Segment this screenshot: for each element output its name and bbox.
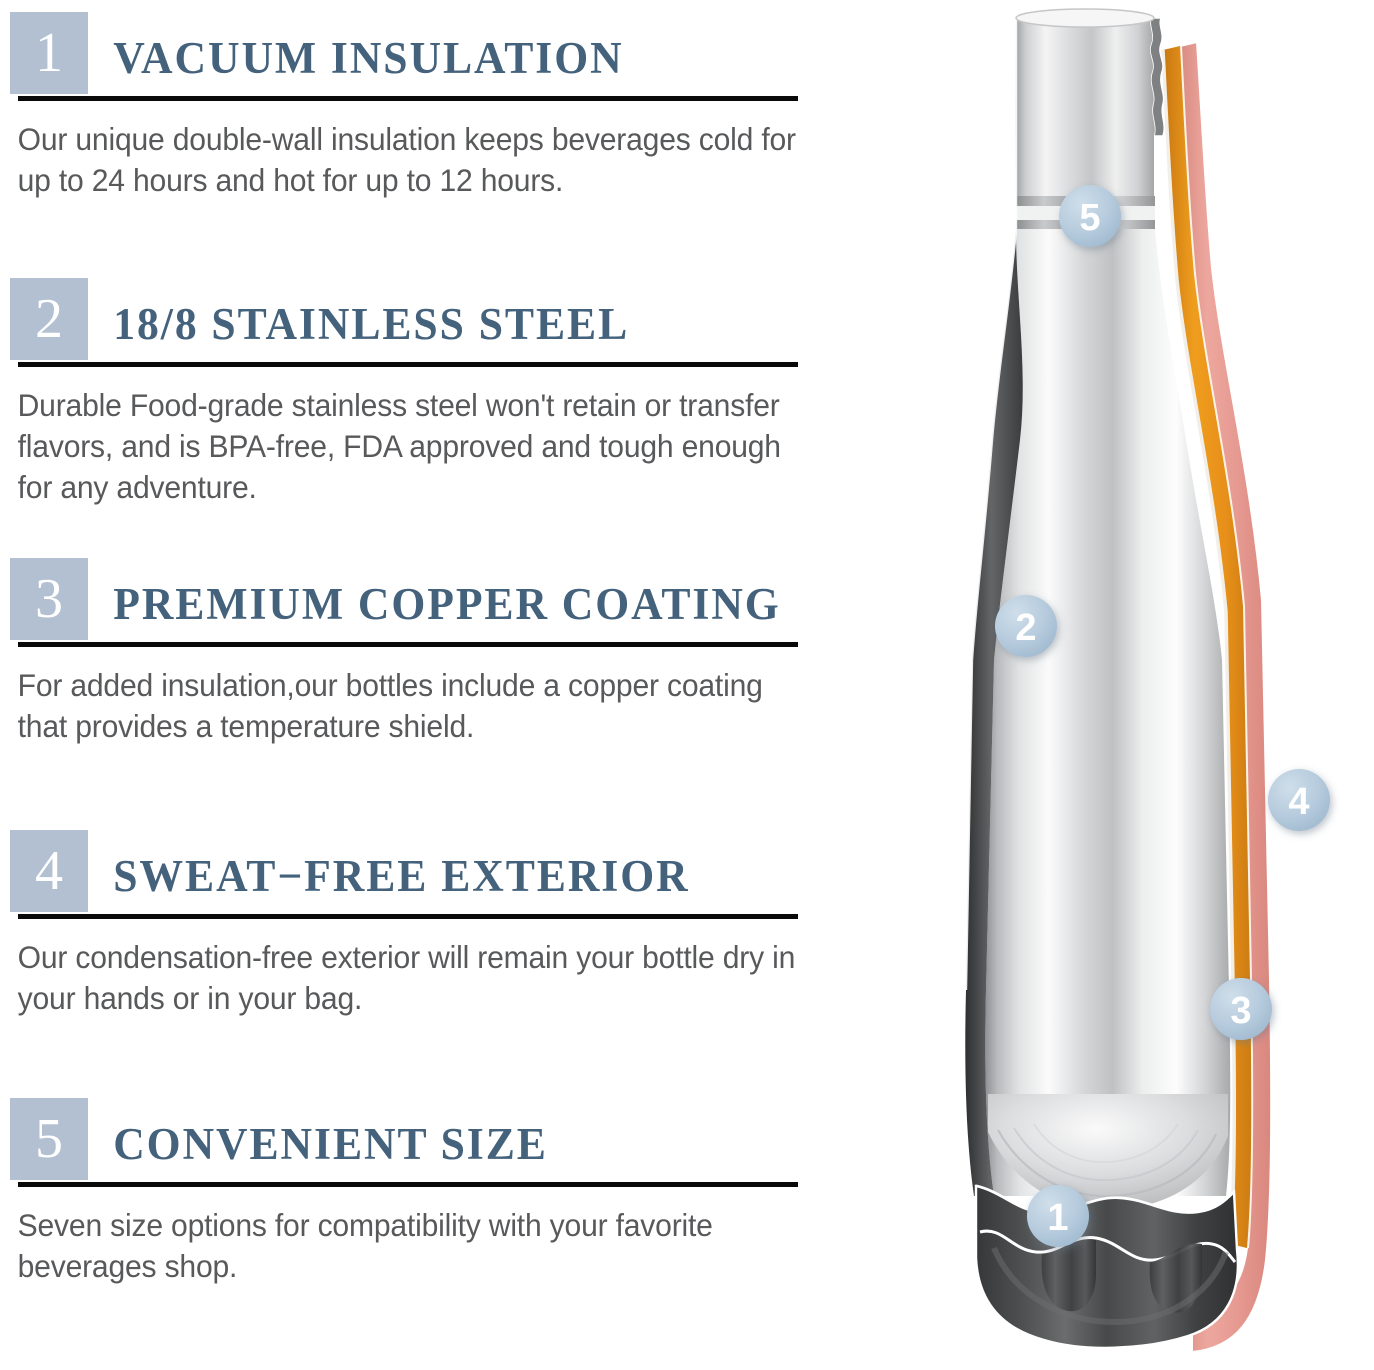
feature-description: Seven size options for compatibility wit… xyxy=(10,1187,803,1287)
bottle-cutaway-svg: 5 2 4 3 1 xyxy=(954,0,1374,1370)
marker-label: 2 xyxy=(1015,607,1036,649)
marker-2[interactable]: 2 xyxy=(995,595,1057,657)
feature-description: Durable Food-grade stainless steel won't… xyxy=(10,367,803,508)
feature-header: 4 SWEAT−FREE EXTERIOR xyxy=(10,828,840,914)
feature-item-convenient-size: 5 CONVENIENT SIZE Seven size options for… xyxy=(10,1096,840,1287)
feature-header: 2 18/8 STAINLESS STEEL xyxy=(10,276,840,362)
feature-description: For added insulation,our bottles include… xyxy=(10,647,803,747)
marker-label: 5 xyxy=(1079,197,1100,239)
feature-description: Our condensation-free exterior will rema… xyxy=(10,919,803,1019)
marker-label: 3 xyxy=(1230,990,1251,1032)
feature-description: Our unique double-wall insulation keeps … xyxy=(10,101,803,201)
bottle-mouth-rim xyxy=(1016,9,1154,27)
feature-number-badge: 4 xyxy=(10,830,88,912)
marker-4[interactable]: 4 xyxy=(1268,769,1330,831)
feature-number-badge: 2 xyxy=(10,278,88,360)
marker-1[interactable]: 1 xyxy=(1027,1185,1089,1247)
marker-label: 4 xyxy=(1288,781,1309,823)
feature-title: SWEAT−FREE EXTERIOR xyxy=(88,850,690,914)
marker-3[interactable]: 3 xyxy=(1210,978,1272,1040)
feature-title: PREMIUM COPPER COATING xyxy=(88,578,781,642)
feature-list: 1 VACUUM INSULATION Our unique double-wa… xyxy=(0,0,860,1370)
feature-item-vacuum-insulation: 1 VACUUM INSULATION Our unique double-wa… xyxy=(10,10,840,201)
marker-label: 1 xyxy=(1047,1197,1068,1239)
feature-number-badge: 5 xyxy=(10,1098,88,1180)
marker-5[interactable]: 5 xyxy=(1059,185,1121,247)
feature-header: 3 PREMIUM COPPER COATING xyxy=(10,556,840,642)
infographic-page: 1 VACUUM INSULATION Our unique double-wa… xyxy=(0,0,1374,1370)
feature-item-stainless-steel: 2 18/8 STAINLESS STEEL Durable Food-grad… xyxy=(10,276,840,508)
feature-number-badge: 3 xyxy=(10,558,88,640)
bottle-neck xyxy=(1015,16,1155,196)
feature-title: VACUUM INSULATION xyxy=(88,32,624,96)
feature-title: 18/8 STAINLESS STEEL xyxy=(88,298,629,362)
feature-item-sweat-free-exterior: 4 SWEAT−FREE EXTERIOR Our condensation-f… xyxy=(10,828,840,1019)
feature-title: CONVENIENT SIZE xyxy=(88,1118,548,1182)
bottle-illustration: 5 2 4 3 1 xyxy=(954,0,1374,1370)
feature-number-badge: 1 xyxy=(10,12,88,94)
feature-header: 1 VACUUM INSULATION xyxy=(10,10,840,96)
feature-header: 5 CONVENIENT SIZE xyxy=(10,1096,840,1182)
feature-item-copper-coating: 3 PREMIUM COPPER COATING For added insul… xyxy=(10,556,840,747)
